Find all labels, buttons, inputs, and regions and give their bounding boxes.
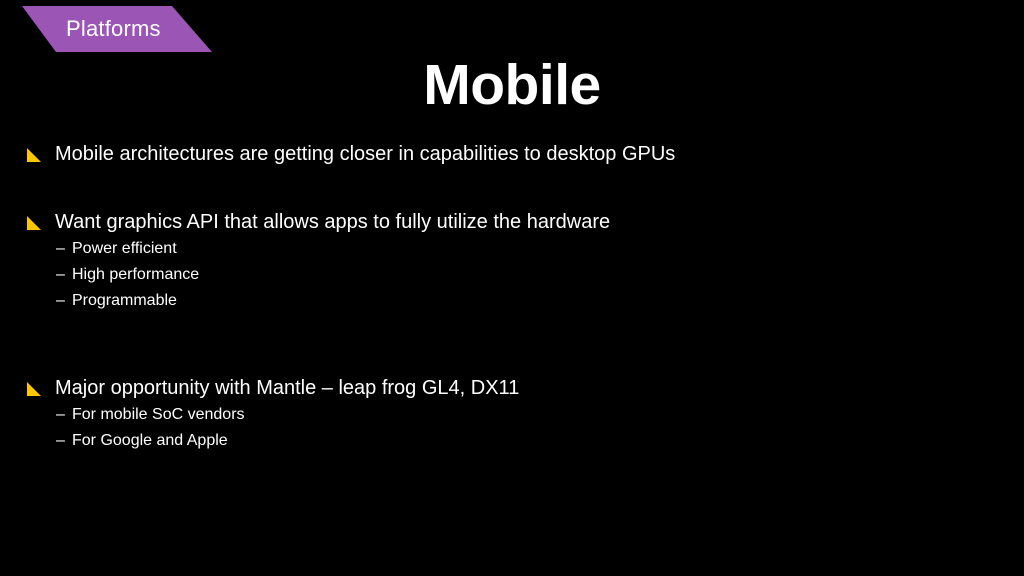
bullet-item-level2: – For Google and Apple (0, 428, 1000, 454)
bullet-text: Major opportunity with Mantle – leap fro… (55, 377, 519, 399)
section-banner: Platforms (0, 6, 230, 52)
slide-title: Mobile (0, 52, 1024, 118)
triangle-bullet-icon (27, 148, 41, 162)
sub-bullet-text: For Google and Apple (72, 432, 228, 449)
sub-bullet-text: Power efficient (72, 240, 177, 257)
sub-bullet-text: For mobile SoC vendors (72, 406, 245, 423)
dash-bullet-icon: – (56, 262, 65, 288)
section-banner-label: Platforms (66, 6, 161, 52)
dash-bullet-icon: – (56, 428, 65, 454)
dash-bullet-icon: – (56, 288, 65, 314)
bullet-group-1: Mobile architectures are getting closer … (0, 140, 1000, 168)
bullet-group-2: Want graphics API that allows apps to fu… (0, 208, 1000, 314)
sub-bullet-list: – Power efficient – High performance – P… (0, 236, 1000, 314)
bullet-item-level1: Want graphics API that allows apps to fu… (0, 208, 1000, 236)
dash-bullet-icon: – (56, 402, 65, 428)
bullet-item-level2: – Programmable (0, 288, 1000, 314)
slide-body: Mobile architectures are getting closer … (0, 140, 1000, 454)
bullet-item-level1: Major opportunity with Mantle – leap fro… (0, 374, 1000, 402)
sub-bullet-text: Programmable (72, 292, 177, 309)
bullet-item-level2: – High performance (0, 262, 1000, 288)
sub-bullet-list: – For mobile SoC vendors – For Google an… (0, 402, 1000, 454)
spacer (0, 168, 1000, 208)
bullet-text: Want graphics API that allows apps to fu… (55, 211, 610, 233)
bullet-item-level1: Mobile architectures are getting closer … (0, 140, 1000, 168)
presentation-slide: Platforms Mobile Mobile architectures ar… (0, 0, 1024, 576)
bullet-item-level2: – For mobile SoC vendors (0, 402, 1000, 428)
triangle-bullet-icon (27, 216, 41, 230)
triangle-bullet-icon (27, 382, 41, 396)
dash-bullet-icon: – (56, 236, 65, 262)
bullet-text: Mobile architectures are getting closer … (55, 143, 675, 165)
spacer (0, 314, 1000, 374)
sub-bullet-text: High performance (72, 266, 199, 283)
bullet-item-level2: – Power efficient (0, 236, 1000, 262)
bullet-group-3: Major opportunity with Mantle – leap fro… (0, 374, 1000, 454)
